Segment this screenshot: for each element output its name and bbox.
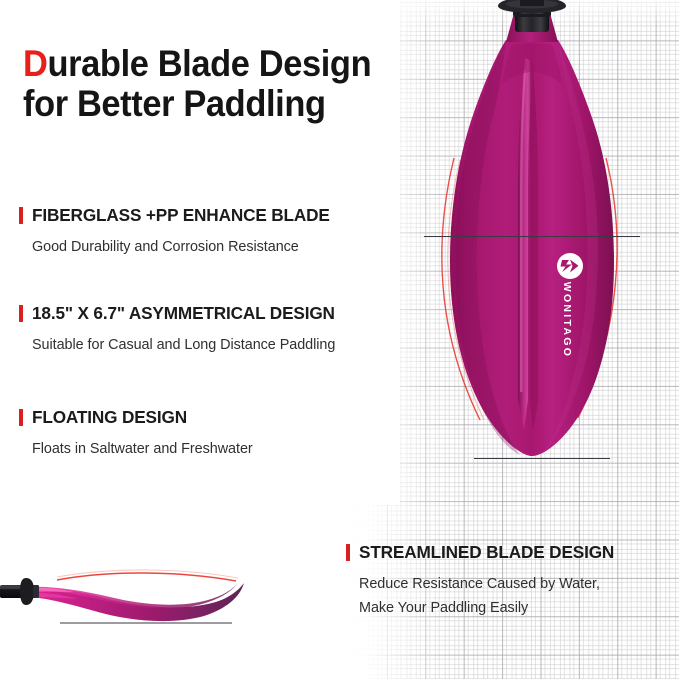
measurement-line-width [424,236,640,237]
product-feature-infographic: Durable Blade Design for Better Paddling… [0,0,679,679]
feature-subtitle: Good Durability and Corrosion Resistance [32,237,330,257]
page-title: Durable Blade Design for Better Paddling [23,44,376,124]
brand-name: WONITAGO [561,270,573,370]
feature-block-asymmetrical: 18.5" X 6.7" ASYMMETRICAL DESIGN Suitabl… [19,303,335,355]
feature-heading: FIBERGLASS +PP ENHANCE BLADE [19,205,330,226]
feature-heading: 18.5" X 6.7" ASYMMETRICAL DESIGN [19,303,335,324]
red-bar-bullet-icon [19,305,23,322]
feature-title: STREAMLINED BLADE DESIGN [359,542,614,563]
feature-title: 18.5" X 6.7" ASYMMETRICAL DESIGN [32,303,335,324]
feature-subtitle-line-1: Reduce Resistance Caused by Water, [359,574,614,594]
red-bar-bullet-icon [19,409,23,426]
feature-subtitle-line-2: Make Your Paddling Easily [359,598,614,618]
paddle-blade-front-view [420,0,650,470]
page-title-accent-letter: D [23,43,47,84]
paddle-blade-side-view [0,545,290,655]
feature-subtitle: Suitable for Casual and Long Distance Pa… [32,335,335,355]
feature-block-fiberglass: FIBERGLASS +PP ENHANCE BLADE Good Durabi… [19,205,330,257]
feature-subtitle: Floats in Saltwater and Freshwater [32,439,253,459]
feature-title: FLOATING DESIGN [32,407,187,428]
feature-heading: STREAMLINED BLADE DESIGN [346,542,614,563]
feature-title: FIBERGLASS +PP ENHANCE BLADE [32,205,330,226]
page-title-line2: for Better Paddling [23,83,326,124]
measurement-line-bottom [474,458,610,459]
page-title-line1: urable Blade Design [47,43,371,84]
red-bar-bullet-icon [19,207,23,224]
brand-logo-group: WONITAGO [548,252,592,402]
feature-block-floating: FLOATING DESIGN Floats in Saltwater and … [19,407,253,459]
feature-block-streamlined: STREAMLINED BLADE DESIGN Reduce Resistan… [346,542,614,619]
feature-heading: FLOATING DESIGN [19,407,253,428]
red-bar-bullet-icon [346,544,350,561]
